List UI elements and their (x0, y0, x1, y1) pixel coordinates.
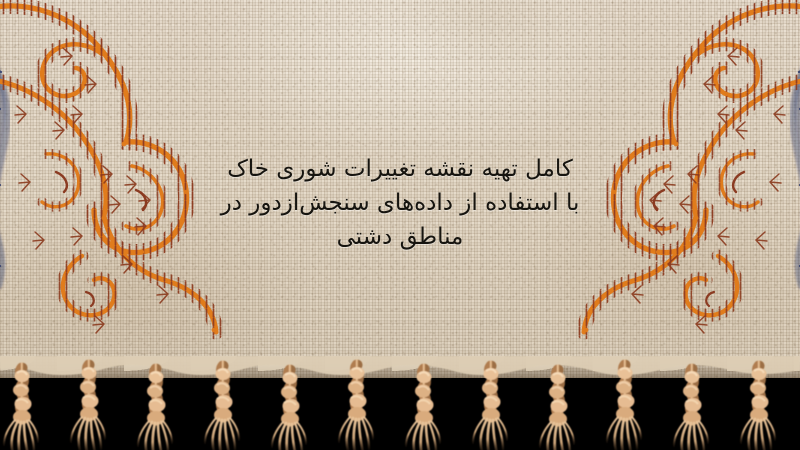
title-line-1: کامل تهیه نقشه تغییرات شوری خاک (160, 152, 640, 186)
slide-title: کامل تهیه نقشه تغییرات شوری خاک با استفا… (160, 152, 640, 254)
title-line-2: با استفاده از داده‌های سنجش‌ازدور در (160, 186, 640, 220)
tassel-fringe (0, 356, 800, 450)
presentation-slide: کامل تهیه نقشه تغییرات شوری خاک با استفا… (0, 0, 800, 450)
title-line-3: مناطق دشتی (160, 220, 640, 254)
